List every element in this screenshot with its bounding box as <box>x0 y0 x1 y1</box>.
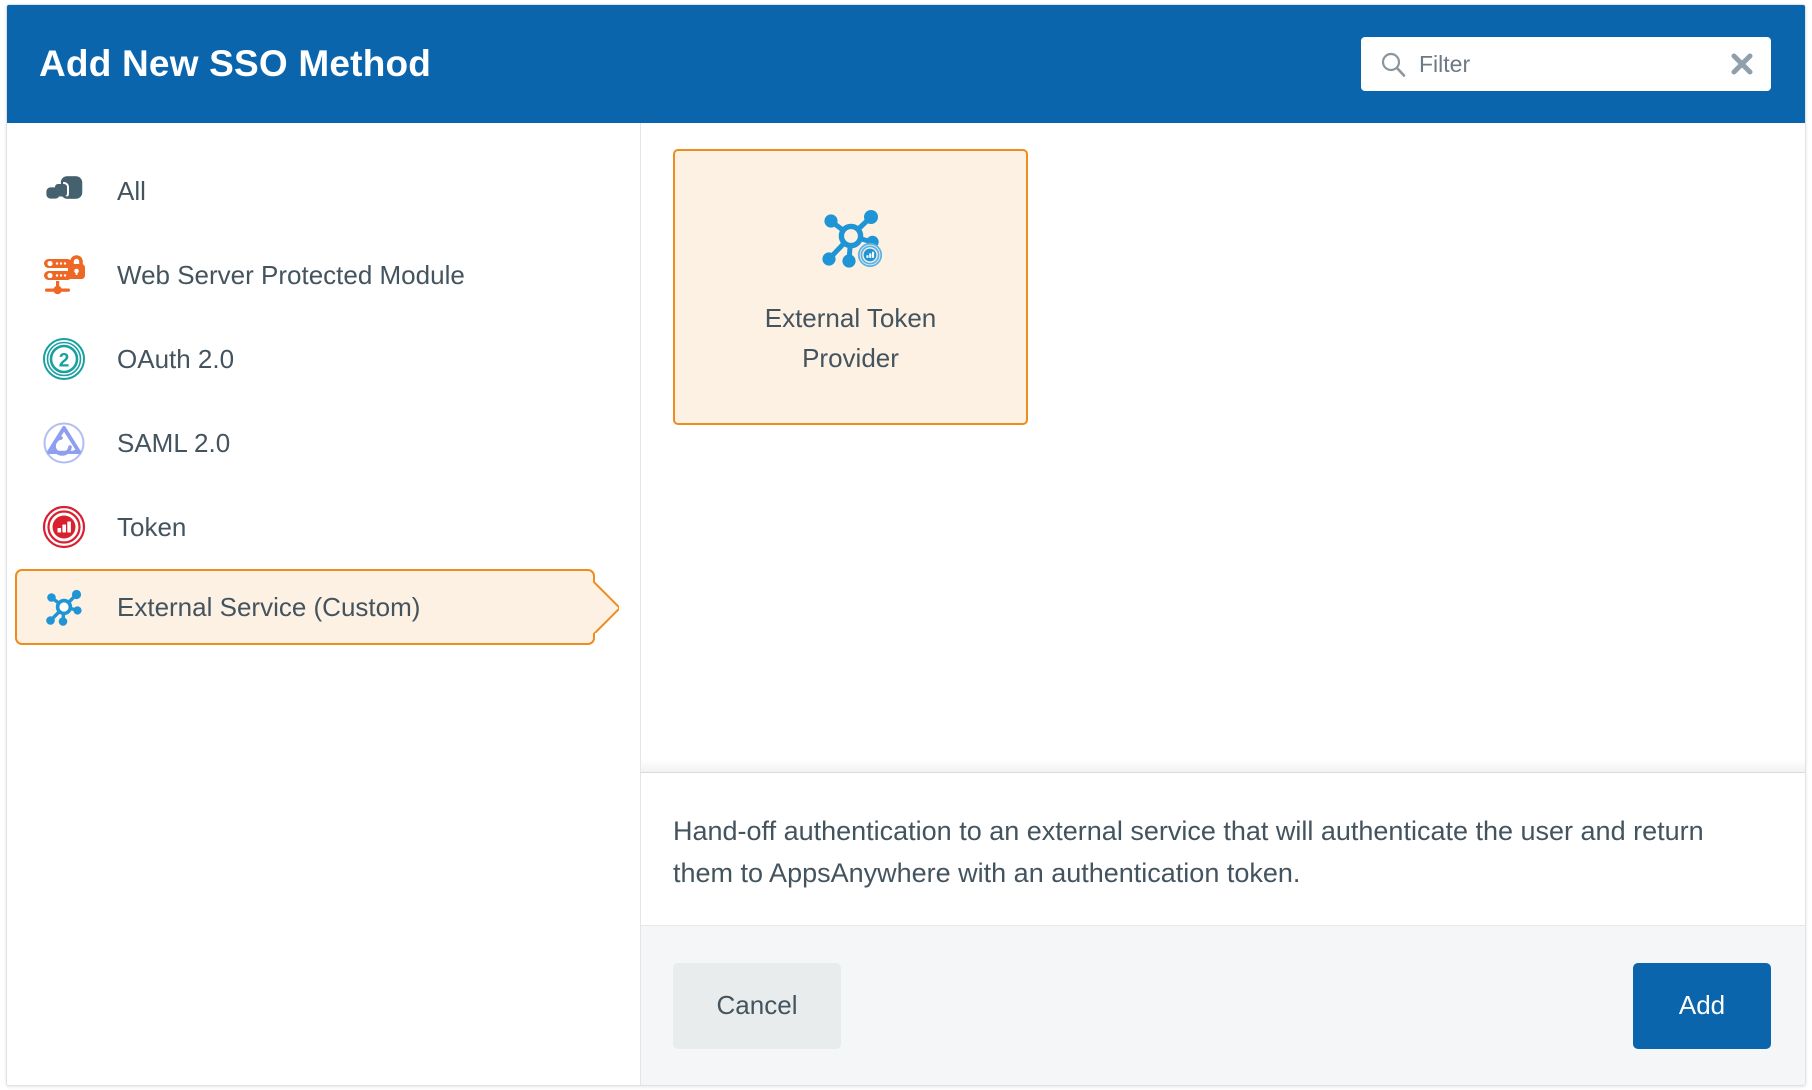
filter-search-box[interactable] <box>1361 37 1771 91</box>
add-button[interactable]: Add <box>1633 963 1771 1049</box>
search-icon <box>1379 50 1407 78</box>
oauth-circle-two-icon: 2 <box>37 332 91 386</box>
cancel-button[interactable]: Cancel <box>673 963 841 1049</box>
method-description-text: Hand-off authentication to an external s… <box>673 811 1743 895</box>
sidebar-item-oauth-2-0[interactable]: 2 OAuth 2.0 <box>7 317 640 401</box>
method-card-external-token-provider[interactable]: External Token Provider <box>673 149 1028 425</box>
saml-triangle-swirl-icon <box>37 416 91 470</box>
close-x-icon[interactable] <box>1727 49 1757 79</box>
dialog-header: Add New SSO Method <box>7 5 1805 123</box>
method-content-panel: External Token Provider Hand-off authent… <box>641 123 1805 1085</box>
sidebar-item-label: Web Server Protected Module <box>117 260 465 291</box>
sidebar-item-web-server-protected-module[interactable]: Web Server Protected Module <box>7 233 640 317</box>
add-sso-method-dialog: Add New SSO Method <box>6 4 1806 1086</box>
network-hub-token-icon <box>808 196 894 282</box>
category-sidebar: All <box>7 123 641 1085</box>
dialog-body: All <box>7 123 1805 1085</box>
stacked-layers-icon <box>37 164 91 218</box>
sidebar-item-label: OAuth 2.0 <box>117 344 234 375</box>
selected-pointer-arrow <box>593 581 619 633</box>
sidebar-item-external-service-custom[interactable]: External Service (Custom) <box>15 569 595 645</box>
sidebar-item-label: External Service (Custom) <box>117 592 420 623</box>
dialog-footer: Cancel Add <box>641 925 1805 1085</box>
token-circle-bars-icon <box>37 500 91 554</box>
sidebar-item-all[interactable]: All <box>7 149 640 233</box>
page-title: Add New SSO Method <box>39 43 431 85</box>
method-card-label: External Token Provider <box>736 298 966 379</box>
search-input[interactable] <box>1419 51 1715 78</box>
svg-text:2: 2 <box>59 351 70 372</box>
method-description-panel: Hand-off authentication to an external s… <box>641 772 1805 925</box>
sidebar-item-token[interactable]: Token <box>7 485 640 569</box>
method-card-grid: External Token Provider <box>641 123 1805 772</box>
sidebar-item-saml-2-0[interactable]: SAML 2.0 <box>7 401 640 485</box>
sidebar-item-label: SAML 2.0 <box>117 428 230 459</box>
sidebar-item-label: All <box>117 176 146 207</box>
network-hub-icon <box>37 580 91 634</box>
sidebar-item-label: Token <box>117 512 186 543</box>
server-lock-icon <box>37 248 91 302</box>
